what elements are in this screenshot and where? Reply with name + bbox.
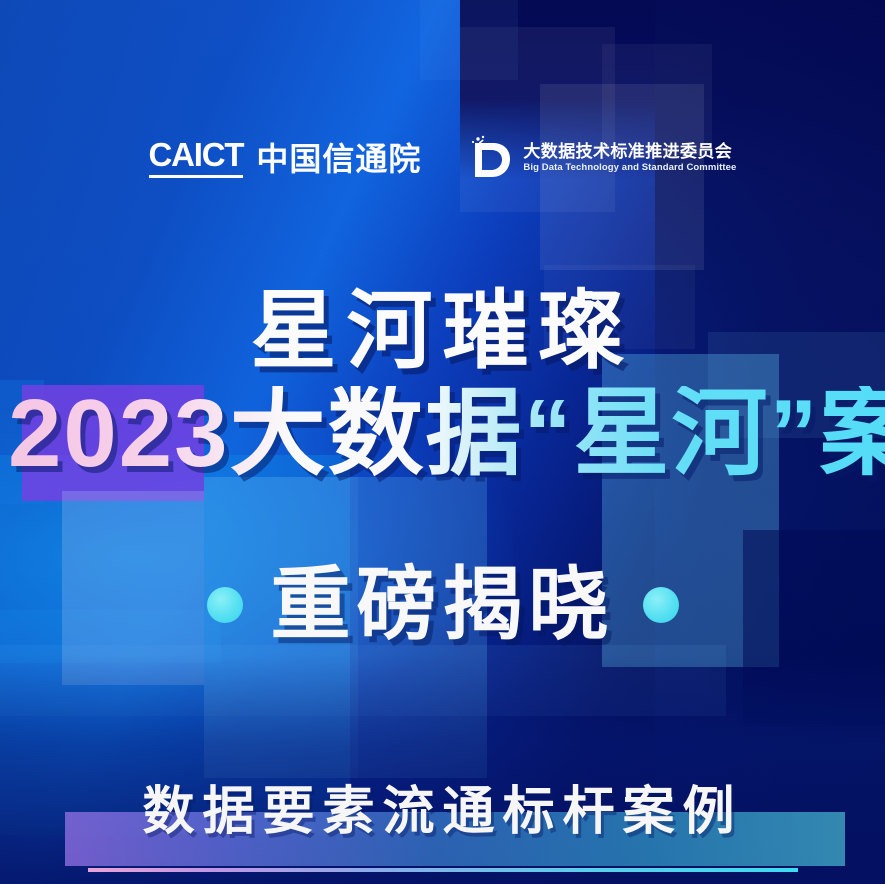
cyan-dot-right-icon: [643, 587, 679, 623]
reveal-text: 重磅揭晓: [271, 563, 615, 648]
caict-wordmark: CAICT: [149, 138, 244, 171]
title-line-one: 星河璀璨: [0, 288, 885, 374]
logo-bar: CAICT 中国信通院 大数据技术标准推进委员会 Big Data Techno…: [0, 135, 885, 181]
caict-chinese-name: 中国信通院: [256, 143, 421, 178]
cyan-dot-left-icon: [207, 587, 243, 623]
poster-root: CAICT 中国信通院 大数据技术标准推进委员会 Big Data Techno…: [0, 0, 885, 884]
caict-underline: [149, 175, 244, 178]
title-line-two: 2023大数据“星河”案例: [0, 386, 885, 482]
caict-wordmark-group: CAICT: [149, 138, 244, 178]
bdtsc-english-name: Big Data Technology and Standard Committ…: [523, 163, 736, 173]
logo-caict: CAICT 中国信通院: [149, 138, 422, 178]
main-title-block: 星河璀璨 2023大数据“星河”案例: [0, 288, 885, 482]
bdtsc-text-group: 大数据技术标准推进委员会 Big Data Technology and Sta…: [523, 143, 736, 173]
bdtsc-d-monogram-icon: [469, 135, 511, 181]
bdtsc-chinese-name: 大数据技术标准推进委员会: [523, 143, 736, 160]
reveal-row: 重磅揭晓: [0, 563, 885, 648]
footer-gradient-rule: [88, 868, 798, 872]
footer-banner-text: 数据要素流通标杆案例: [0, 786, 885, 838]
logo-bdtsc: 大数据技术标准推进委员会 Big Data Technology and Sta…: [469, 135, 736, 181]
